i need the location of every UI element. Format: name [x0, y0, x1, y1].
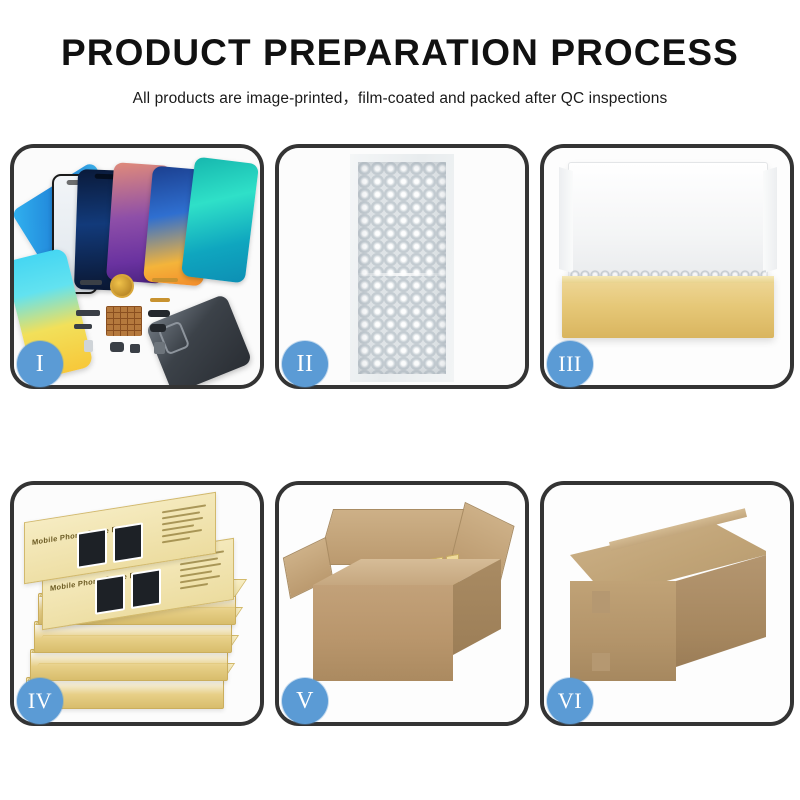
step-card-3[interactable]: III — [540, 144, 794, 389]
teal-phone-icon — [181, 157, 259, 284]
process-steps-grid: I II III Mobile — [10, 144, 790, 726]
small-part-icon — [110, 342, 124, 352]
white-lid-flap-icon — [568, 162, 768, 282]
step-badge-5: V — [282, 678, 328, 724]
sealed-carton-front-icon — [570, 581, 676, 681]
tape-tab-icon — [592, 653, 610, 671]
small-part-icon — [84, 340, 93, 352]
copper-coil-icon — [110, 274, 134, 298]
yellow-kraft-base-icon — [562, 276, 774, 338]
retail-box-stack-icon: Mobile Phone Spare Parts Mobile Phone Sp… — [20, 501, 254, 713]
camera-module-icon — [150, 324, 166, 332]
mailer-front-edge-icon — [562, 276, 774, 283]
bag-seam-icon — [358, 273, 446, 276]
small-part-icon — [80, 280, 102, 285]
phone-back-housing-icon — [145, 294, 252, 385]
bubble-wrap-bag-icon — [350, 154, 454, 382]
step-badge-3: III — [547, 341, 593, 387]
step-badge-1: I — [17, 341, 63, 387]
step-card-5[interactable]: V — [275, 481, 529, 726]
tape-tab-icon — [592, 591, 610, 613]
step-card-2[interactable]: II — [275, 144, 529, 389]
carton-front-icon — [313, 585, 453, 681]
camera-module-icon — [148, 310, 170, 317]
page-subtitle: All products are image-printed，film-coat… — [0, 86, 800, 108]
step-card-6[interactable]: VI — [540, 481, 794, 726]
small-part-icon — [130, 344, 140, 353]
chip-grid-icon — [106, 306, 142, 336]
step-badge-6: VI — [547, 678, 593, 724]
step-card-1[interactable]: I — [10, 144, 264, 389]
step-badge-4: IV — [17, 678, 63, 724]
header: PRODUCT PREPARATION PROCESS All products… — [0, 0, 800, 108]
small-part-icon — [74, 324, 92, 329]
step-card-4[interactable]: Mobile Phone Spare Parts Mobile Phone Sp… — [10, 481, 264, 726]
page-title: PRODUCT PREPARATION PROCESS — [0, 34, 800, 73]
small-part-icon — [76, 310, 100, 316]
flex-cable-icon — [152, 278, 178, 282]
flex-cable-icon — [150, 298, 170, 302]
step-badge-2: II — [282, 341, 328, 387]
small-part-icon — [154, 342, 165, 354]
bubble-sheet-icon — [358, 162, 446, 374]
